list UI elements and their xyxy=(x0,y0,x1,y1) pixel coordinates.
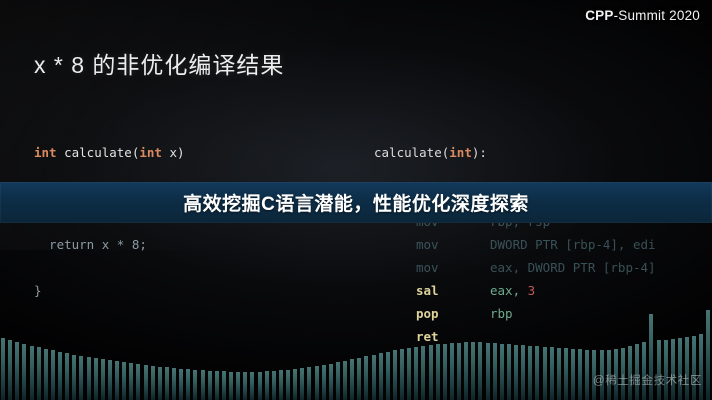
equalizer-bar xyxy=(222,371,226,400)
equalizer-bar xyxy=(642,342,646,400)
equalizer-bar xyxy=(72,355,76,400)
equalizer-bar xyxy=(265,371,269,400)
equalizer-bar xyxy=(37,347,41,400)
equalizer-bar xyxy=(564,348,568,400)
equalizer-bar xyxy=(286,370,290,400)
equalizer-bar xyxy=(350,359,354,400)
equalizer-bar xyxy=(493,343,497,400)
equalizer-bar xyxy=(44,349,48,400)
equalizer-bar xyxy=(457,343,461,400)
equalizer-bar xyxy=(315,366,319,400)
asm-mnemonic: sal xyxy=(416,279,490,302)
equalizer-bar xyxy=(507,344,511,400)
c-function-decl: calculate( xyxy=(57,145,140,160)
c-keyword-int-param: int xyxy=(139,145,162,160)
equalizer-bar xyxy=(436,344,440,400)
asm-operands: eax, 3 xyxy=(490,283,535,298)
asm-operands: eax, DWORD PTR [rbp-4] xyxy=(490,260,656,275)
equalizer-bar xyxy=(478,342,482,400)
equalizer-bar xyxy=(279,370,283,400)
equalizer-bar xyxy=(144,365,148,400)
equalizer-bar xyxy=(578,349,582,400)
equalizer-bar xyxy=(471,342,475,400)
c-code-line-3: return x * 8; xyxy=(34,233,185,256)
equalizer-bar xyxy=(115,361,119,400)
equalizer-bar xyxy=(379,353,383,400)
equalizer-bar xyxy=(393,350,397,400)
asm-instruction-row: moveax, DWORD PTR [rbp-4] xyxy=(374,256,656,279)
asm-label-keyword: int xyxy=(449,145,472,160)
equalizer-bar xyxy=(500,344,504,400)
c-param-tail: x) xyxy=(162,145,185,160)
conference-logo-brand: CPP xyxy=(585,8,613,23)
equalizer-bar xyxy=(15,342,19,400)
c-keyword-int: int xyxy=(34,145,57,160)
equalizer-bar xyxy=(79,356,83,400)
equalizer-bar xyxy=(186,369,190,400)
equalizer-bar xyxy=(664,340,668,400)
asm-label-tail: ): xyxy=(472,145,487,160)
equalizer-bar xyxy=(258,372,262,400)
equalizer-bar xyxy=(243,372,247,400)
equalizer-bar xyxy=(151,366,155,400)
equalizer-bar xyxy=(108,360,112,400)
equalizer-bar xyxy=(136,364,140,400)
equalizer-bar xyxy=(414,347,418,400)
equalizer-bar xyxy=(571,349,575,400)
equalizer-bar xyxy=(699,334,703,400)
equalizer-bar xyxy=(65,353,69,400)
caption-banner: 高效挖掘C语言潜能，性能优化深度探索 xyxy=(0,182,712,223)
equalizer-bar xyxy=(585,350,589,400)
equalizer-bar xyxy=(671,339,675,400)
equalizer-bar xyxy=(528,346,532,400)
equalizer-bar xyxy=(229,372,233,400)
conference-logo-suffix: -Summit 2020 xyxy=(614,8,700,23)
equalizer-bar xyxy=(685,337,689,400)
slide-title: x * 8 的非优化编译结果 xyxy=(34,46,284,80)
asm-operands: DWORD PTR [rbp-4], edi xyxy=(490,237,656,252)
equalizer-bar xyxy=(87,357,91,400)
equalizer-bar xyxy=(429,345,433,400)
equalizer-bar xyxy=(336,362,340,400)
watermark: @稀土掘金技术社区 xyxy=(593,372,702,388)
equalizer-bar xyxy=(179,369,183,400)
equalizer-bar xyxy=(101,359,105,400)
equalizer-bar xyxy=(201,370,205,400)
c-code-line-1: int calculate(int x) xyxy=(34,141,185,164)
asm-label-name: calculate( xyxy=(374,145,449,160)
equalizer-bar xyxy=(307,367,311,400)
equalizer-bar xyxy=(236,372,240,400)
equalizer-bar xyxy=(193,370,197,400)
equalizer-bar xyxy=(514,345,518,400)
equalizer-bar xyxy=(464,342,468,400)
equalizer-bar xyxy=(543,347,547,400)
asm-mnemonic: mov xyxy=(416,233,490,256)
equalizer-bar xyxy=(678,338,682,400)
equalizer-bar xyxy=(486,343,490,400)
equalizer-bar xyxy=(122,362,126,400)
equalizer-bar xyxy=(343,361,347,400)
conference-logo: CPP-Summit 2020 xyxy=(585,8,700,23)
equalizer-bar xyxy=(94,358,98,400)
equalizer-bar xyxy=(165,367,169,400)
slide-screenshot: CPP-Summit 2020 x * 8 的非优化编译结果 int calcu… xyxy=(0,0,712,400)
equalizer-bar xyxy=(272,371,276,400)
c-code-line-4: } xyxy=(34,279,185,302)
equalizer-bar xyxy=(706,310,710,400)
asm-mnemonic: mov xyxy=(416,256,490,279)
equalizer-bar xyxy=(158,367,162,400)
equalizer-bar xyxy=(58,352,62,400)
equalizer-bar xyxy=(300,368,304,400)
equalizer-bar xyxy=(293,369,297,400)
equalizer-bar xyxy=(550,347,554,400)
equalizer-bar xyxy=(30,346,34,400)
equalizer-bar xyxy=(421,346,425,400)
equalizer-bar xyxy=(535,346,539,400)
equalizer-bar xyxy=(22,344,26,400)
equalizer-bar xyxy=(521,345,525,400)
equalizer-bar xyxy=(1,338,5,400)
caption-text: 高效挖掘C语言潜能，性能优化深度探索 xyxy=(183,189,529,216)
equalizer-bar xyxy=(215,371,219,400)
equalizer-bar xyxy=(129,363,133,400)
equalizer-bar xyxy=(557,348,561,400)
asm-instruction-row: movDWORD PTR [rbp-4], edi xyxy=(374,233,656,256)
equalizer-bar xyxy=(450,343,454,400)
asm-instruction-row: saleax, 3 xyxy=(374,279,656,302)
equalizer-bar xyxy=(250,372,254,400)
equalizer-bar xyxy=(357,358,361,400)
equalizer-bar xyxy=(400,349,404,400)
equalizer-bar xyxy=(8,340,12,400)
equalizer-bar xyxy=(372,355,376,400)
equalizer-bar xyxy=(329,364,333,400)
equalizer-bar xyxy=(657,340,661,400)
equalizer-bar xyxy=(443,344,447,400)
equalizer-bar xyxy=(322,365,326,400)
equalizer-bar xyxy=(386,352,390,400)
equalizer-bar xyxy=(172,368,176,400)
equalizer-bar xyxy=(51,350,55,400)
equalizer-bar xyxy=(407,348,411,400)
asm-label-line: calculate(int): xyxy=(374,141,656,164)
equalizer-bar xyxy=(692,336,696,400)
equalizer-bar xyxy=(208,371,212,400)
equalizer-bar xyxy=(364,356,368,400)
